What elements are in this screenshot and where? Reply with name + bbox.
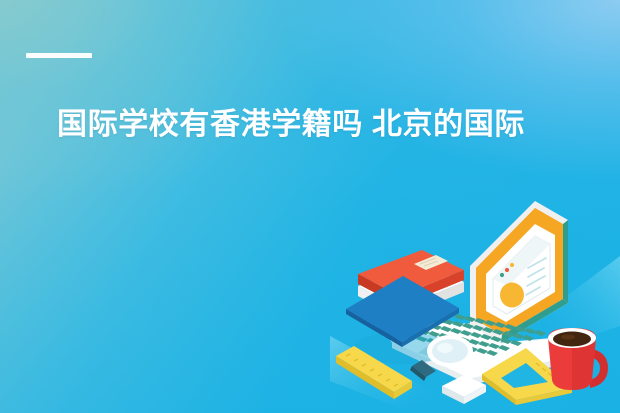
avatar (500, 283, 524, 308)
coffee-mug-icon (548, 328, 608, 390)
window-dot-3 (510, 263, 514, 267)
window-dot-2 (505, 268, 509, 272)
illustration-desk-scene (330, 196, 620, 413)
accent-rule (26, 53, 92, 58)
banner: 国际学校有香港学籍吗 北京的国际 (0, 0, 620, 413)
window-dot-1 (500, 273, 504, 277)
page-title: 国际学校有香港学籍吗 北京的国际 (57, 105, 525, 145)
